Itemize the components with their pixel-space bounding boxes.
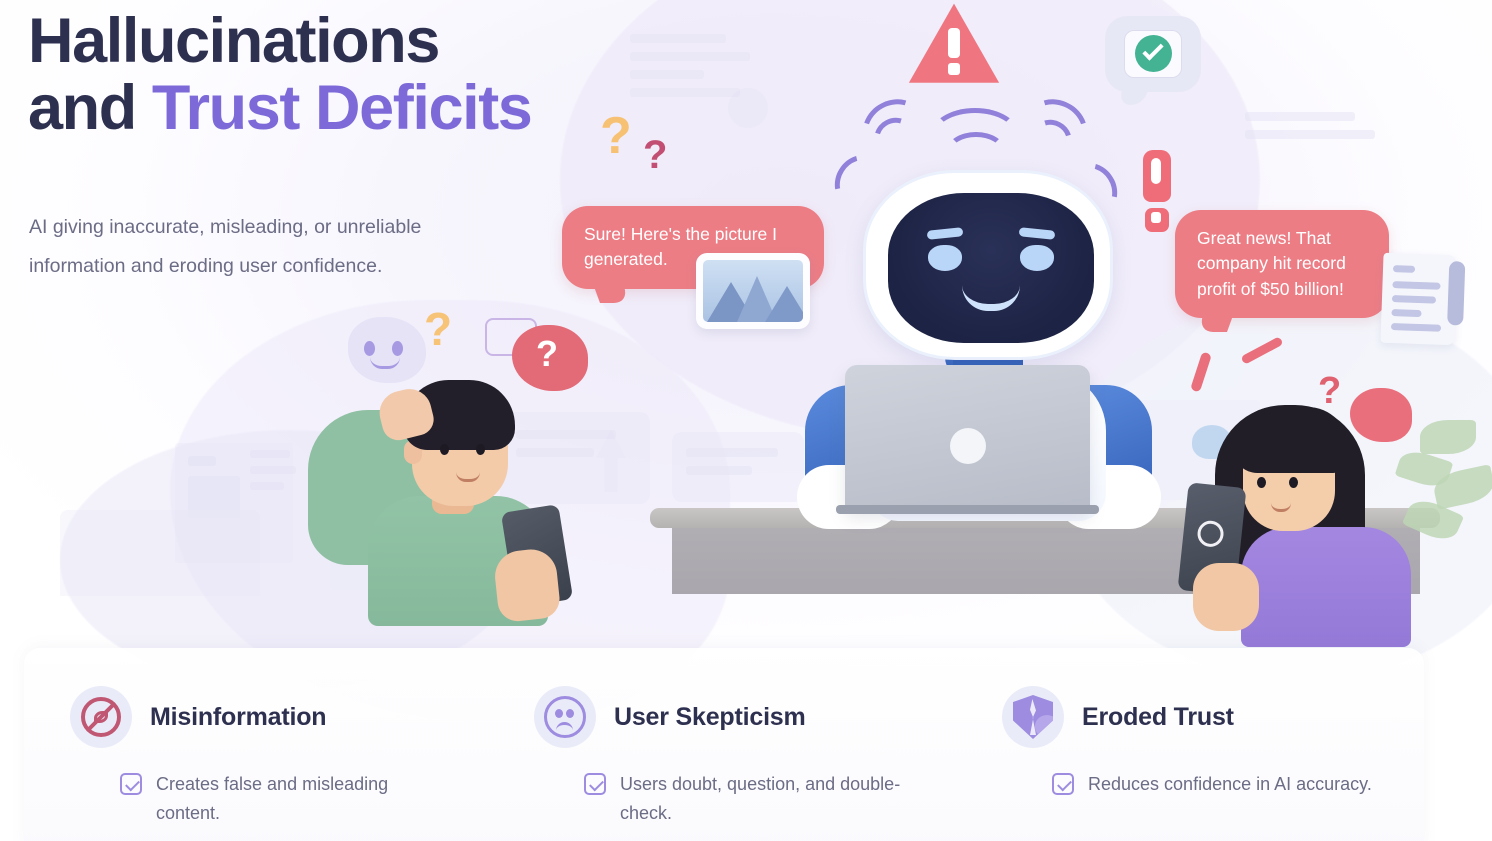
footer-card-eroded-trust[interactable]: Eroded Trust Reduces confidence in AI ac… [956,648,1424,841]
robot-eyebrow-right [1019,227,1056,240]
decor-line [188,456,216,466]
title-line-2-plain: and [28,73,152,143]
robot-face-screen [888,193,1094,343]
no-eye-icon [70,686,132,748]
woman-hair-front [1233,407,1349,473]
broken-shield-icon [1002,686,1064,748]
laptop-icon [845,365,1090,510]
laptop-logo [950,428,986,464]
woman-hand-holding-phone [1193,563,1259,631]
decor-line [1245,130,1375,139]
speech-bubble-right: Great news! That company hit record prof… [1175,210,1389,318]
decor-line [686,466,752,475]
decor-building [60,510,260,596]
decor-line [250,450,290,458]
robot-eye-left [928,245,962,271]
sad-face-icon [534,686,596,748]
man-hand-holding-phone [493,547,562,623]
footer-card-misinformation[interactable]: Misinformation Creates false and mislead… [24,648,492,841]
title-line-2-accent: Trust Deficits [152,73,532,143]
document-scroll-icon [1380,253,1457,346]
robot-eyebrow-left [927,227,964,240]
robot-head [863,170,1113,360]
checkbox-icon[interactable] [120,773,142,795]
card-title: User Skepticism [614,703,806,732]
card-description: Users doubt, question, and double-check. [620,770,920,828]
mountain-photo-icon [696,253,810,329]
checkbox-icon[interactable] [1052,773,1074,795]
warning-exclamation-stem [948,28,960,58]
decor-line [686,448,778,457]
page-title: Hallucinations and Trust Deficits [28,8,648,143]
robot-smile [962,285,1020,311]
decor-line [1245,112,1355,121]
decor-question-mark-crimson-icon: ? [643,135,667,175]
card-title: Eroded Trust [1082,703,1234,732]
decor-line [250,466,296,474]
laptop-base [836,505,1099,514]
woman-with-phone [1185,385,1485,635]
confused-man-with-phone [300,300,620,620]
woman-top [1241,527,1411,647]
card-description: Reduces confidence in AI accuracy. [1088,770,1372,799]
footer-card-list: Misinformation Creates false and mislead… [24,648,1424,841]
footer-card-user-skepticism[interactable]: User Skepticism Users doubt, question, a… [492,648,956,841]
decor-question-mark-orange-icon: ? [600,110,632,162]
warning-exclamation-dot [948,63,960,75]
title-line-1: Hallucinations [28,6,439,76]
card-description: Creates false and misleading content. [156,770,456,828]
checkbox-icon[interactable] [584,773,606,795]
robot-eye-right [1020,245,1054,271]
decor-line [250,482,284,490]
page-subtitle: AI giving inaccurate, misleading, or unr… [29,208,429,285]
infographic-canvas: Hallucinations and Trust Deficits ? ? AI… [0,0,1492,841]
decor-gear [728,88,768,128]
decor-line [630,52,750,61]
card-title: Misinformation [150,703,326,732]
